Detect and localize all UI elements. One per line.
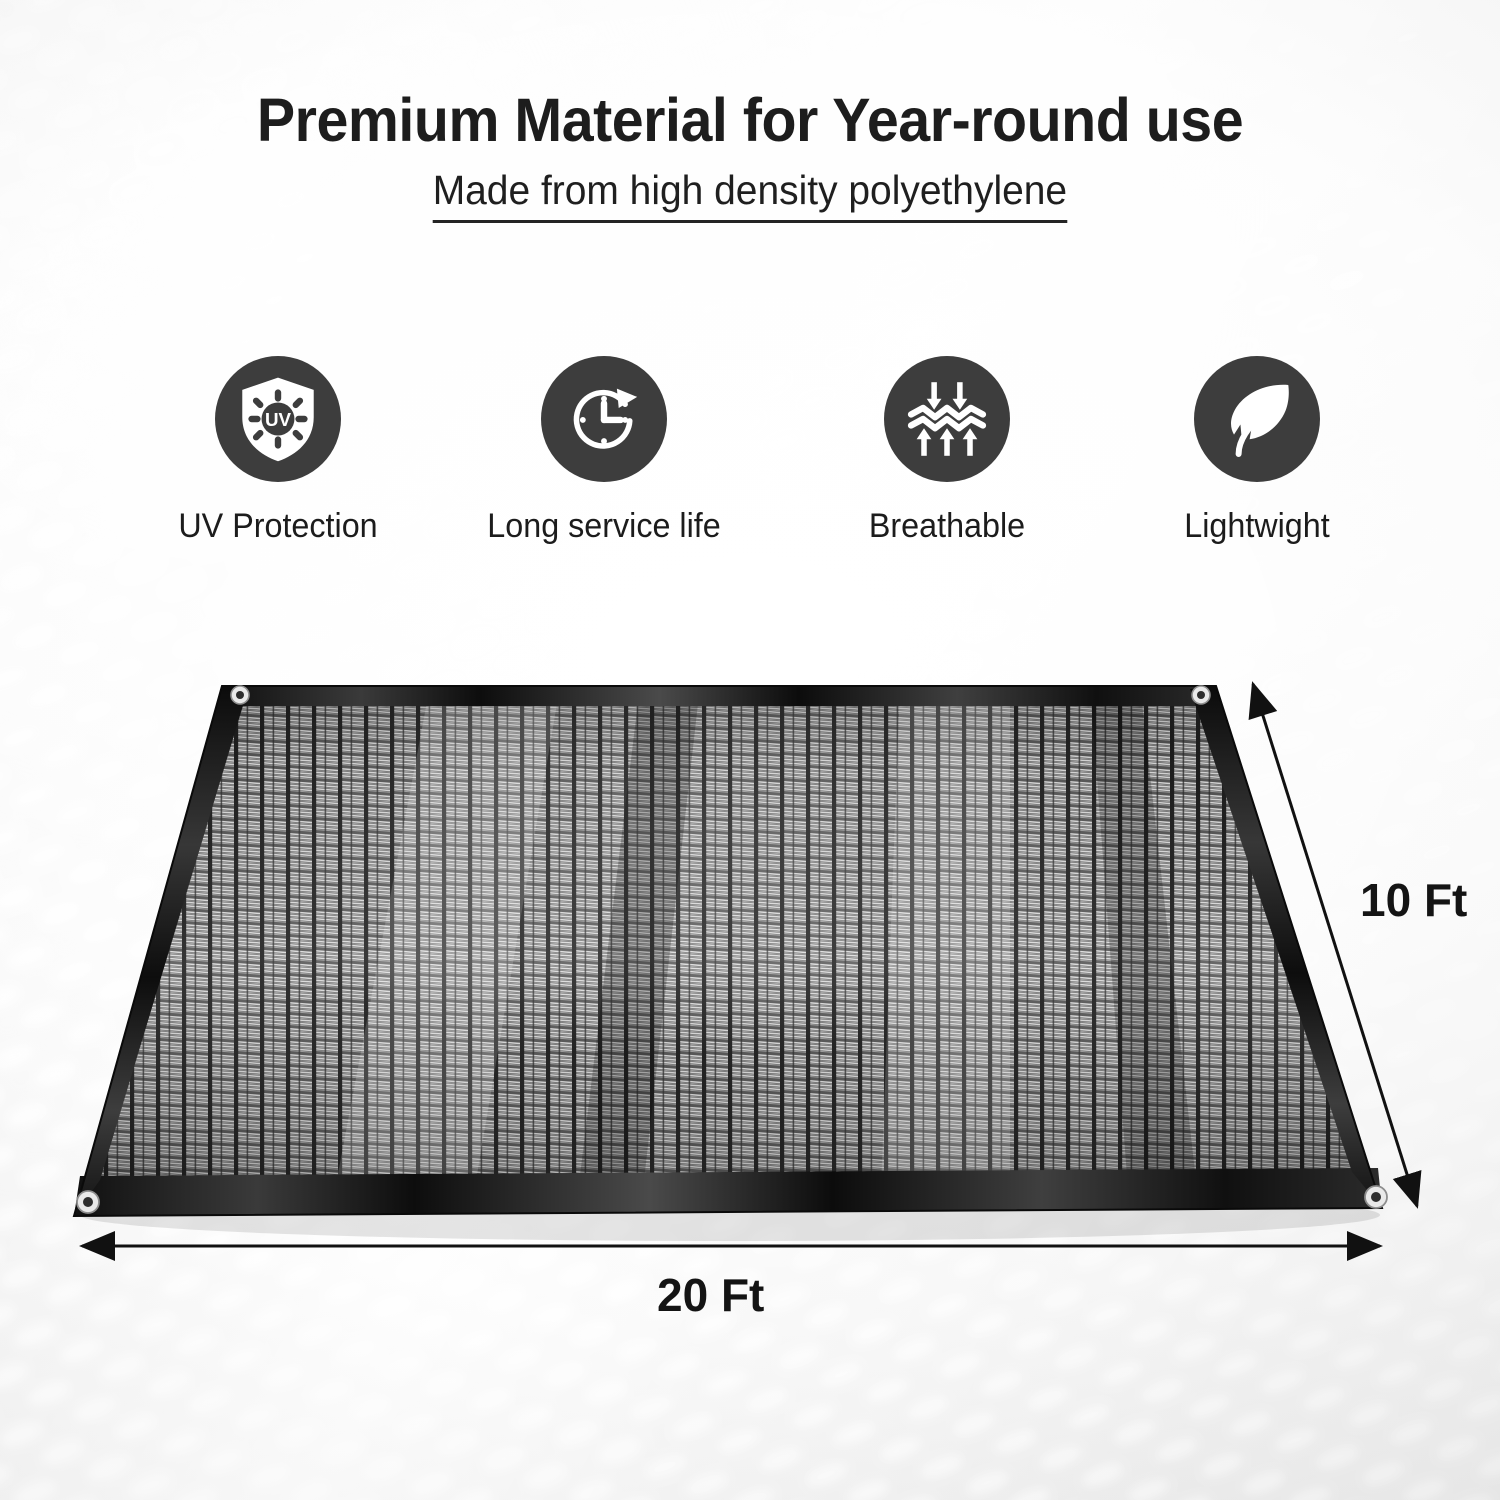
dimension-label-height: 10 Ft xyxy=(1360,873,1467,927)
feature-long-service-life: Long service life xyxy=(454,356,754,546)
page-subtitle: Made from high density polyethylene xyxy=(433,166,1067,223)
feature-uv-protection: UV UV Protection xyxy=(128,356,428,546)
feature-label: Long service life xyxy=(462,507,747,546)
dimension-label-width: 20 Ft xyxy=(657,1268,764,1322)
feature-label: Lightwight xyxy=(1115,507,1400,546)
page-title: Premium Material for Year-round use xyxy=(45,88,1455,152)
breathable-arrows-waves-icon xyxy=(884,356,1010,482)
uv-shield-icon: UV xyxy=(215,356,341,482)
feather-leaf-icon xyxy=(1194,356,1320,482)
clock-arrow-icon xyxy=(541,356,667,482)
feature-list: UV UV Protection xyxy=(120,356,1390,561)
feature-label: Breathable xyxy=(805,507,1090,546)
page-subtitle-wrap: Made from high density polyethylene xyxy=(0,166,1500,223)
product-infographic: Premium Material for Year-round use Made… xyxy=(0,0,1500,1500)
feature-lightweight: Lightwight xyxy=(1107,356,1407,546)
feature-breathable: Breathable xyxy=(797,356,1097,546)
uv-icon-text: UV xyxy=(265,409,292,430)
feature-label: UV Protection xyxy=(136,507,421,546)
